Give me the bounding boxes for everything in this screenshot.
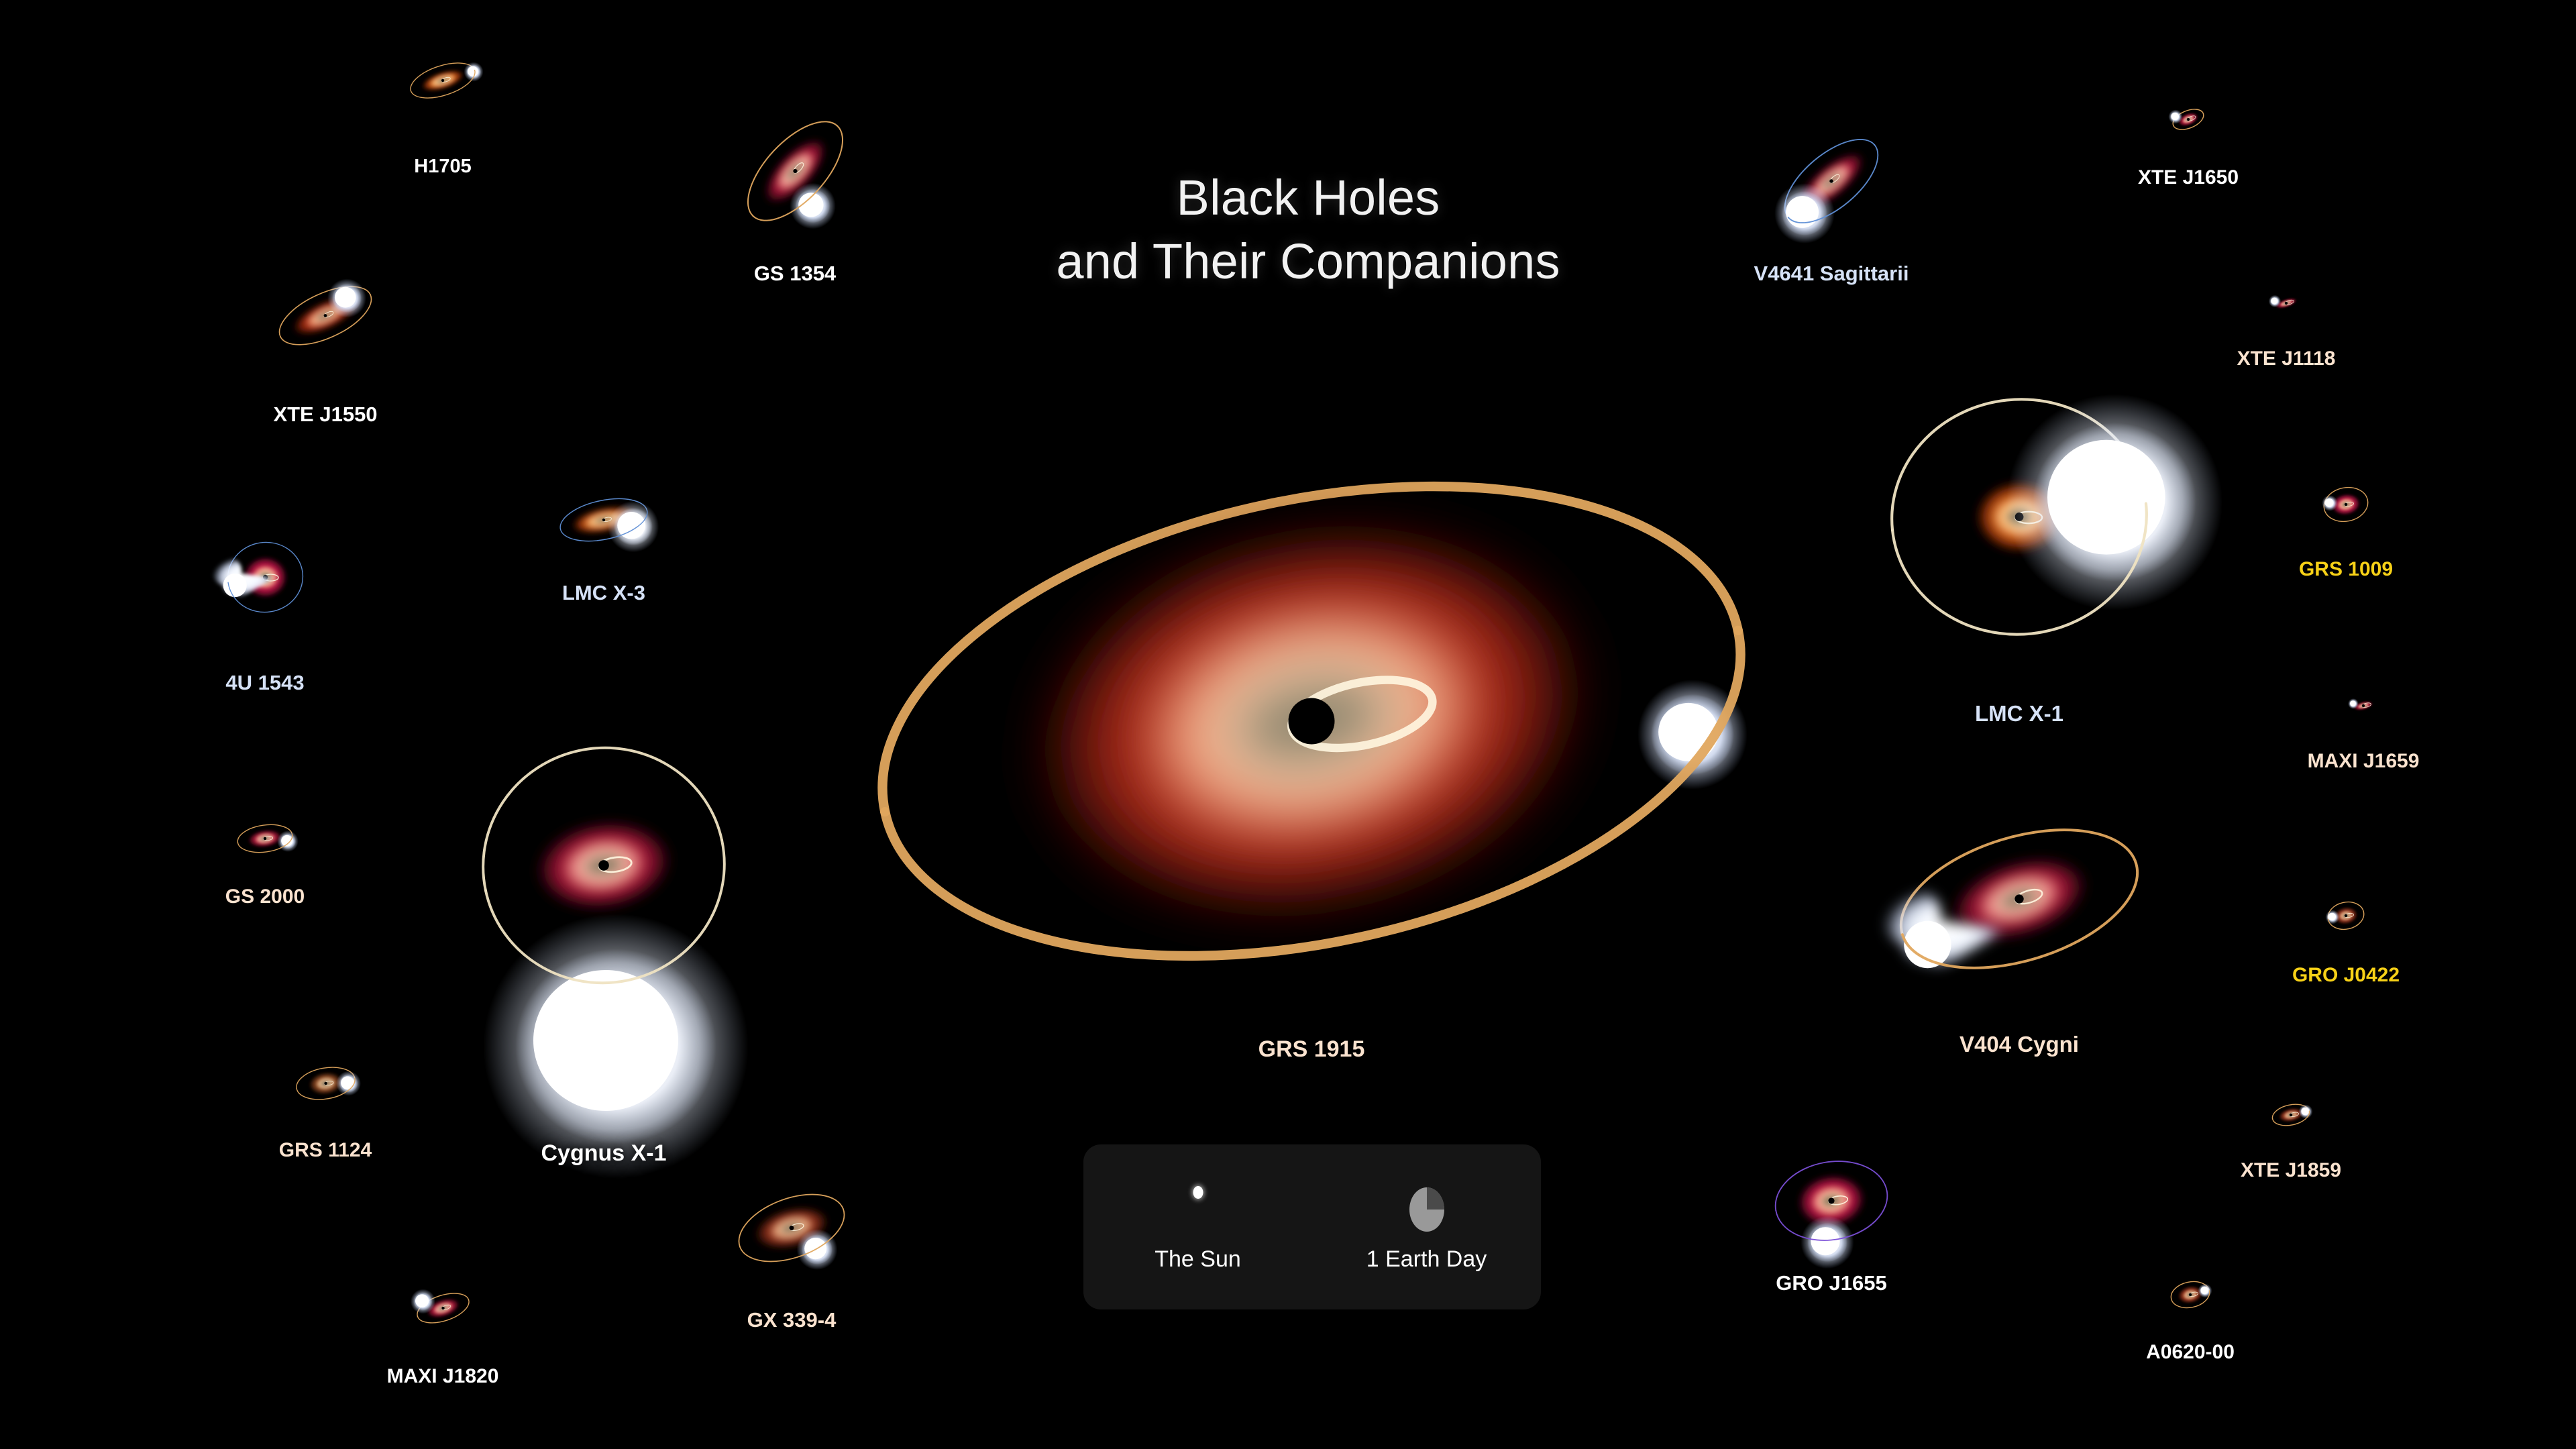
- black-hole-system-gs2000[interactable]: [235, 822, 295, 855]
- system-label-xtej1650: XTE J1650: [2138, 166, 2239, 189]
- legend-item-sun: The Sun: [1083, 1144, 1312, 1309]
- system-label-grs1915: GRS 1915: [1258, 1036, 1365, 1063]
- accretion-disk-icon: [1885, 805, 2153, 993]
- black-hole-system-xtej1650[interactable]: [2168, 108, 2208, 131]
- system-label-v4641sgr: V4641 Sagittarii: [1754, 262, 1909, 286]
- black-hole-system-v4641sgr[interactable]: [1771, 138, 1892, 225]
- legend-item-earth-day: 1 Earth Day: [1312, 1144, 1541, 1309]
- accretion-disk-icon: [235, 822, 295, 855]
- accretion-disk-icon: [1885, 425, 2153, 609]
- accretion-disk-icon: [733, 127, 857, 215]
- accretion-disk-icon: [2266, 293, 2306, 313]
- accretion-disk-icon: [220, 542, 311, 612]
- black-hole-system-v404cygni[interactable]: [1885, 805, 2153, 993]
- system-label-lmcx1: LMC X-1: [1975, 701, 2063, 727]
- sun-dot-icon: [1193, 1186, 1203, 1199]
- black-hole-system-maxij1659[interactable]: [2345, 696, 2382, 715]
- black-hole-system-cygnusx1[interactable]: [483, 711, 724, 1020]
- black-hole-system-lmcx1[interactable]: [1885, 425, 2153, 609]
- accretion-disk-icon: [272, 280, 379, 351]
- black-hole-system-4u1543[interactable]: [220, 542, 311, 612]
- system-label-gs1354: GS 1354: [754, 262, 836, 286]
- pie-clock-icon: [1407, 1186, 1446, 1236]
- system-label-v404cygni: V404 Cygni: [1960, 1032, 2079, 1057]
- black-hole-system-groj0422[interactable]: [2324, 903, 2367, 928]
- system-label-cygnusx1: Cygnus X-1: [541, 1140, 666, 1167]
- accretion-disk-icon: [2167, 1283, 2214, 1307]
- system-label-maxij1820: MAXI J1820: [387, 1365, 499, 1388]
- accretion-disk-icon: [411, 1292, 475, 1324]
- black-hole-system-xtej1859[interactable]: [2267, 1103, 2314, 1127]
- black-hole-system-xtej1118[interactable]: [2266, 293, 2306, 313]
- accretion-disk-icon: [2324, 903, 2367, 928]
- system-label-h1705: H1705: [414, 156, 471, 178]
- accretion-disk-icon: [483, 711, 724, 1020]
- diagram-canvas: Black Holes and Their Companions: [0, 0, 2576, 1449]
- accretion-disk-icon: [553, 489, 654, 551]
- black-hole-system-gx3394[interactable]: [735, 1189, 849, 1267]
- system-label-groj0422: GRO J0422: [2292, 964, 2400, 987]
- accretion-disk-icon: [2168, 108, 2208, 131]
- system-label-xtej1118: XTE J1118: [2237, 347, 2336, 370]
- black-hole-system-h1705[interactable]: [409, 63, 476, 98]
- black-hole-system-lmcx3[interactable]: [553, 489, 654, 551]
- system-label-a0620: A0620-00: [2146, 1341, 2235, 1364]
- accretion-disk-icon: [294, 1067, 358, 1100]
- black-hole-system-xtej1550[interactable]: [272, 280, 379, 351]
- black-hole-system-grs1915[interactable]: [889, 490, 1734, 953]
- accretion-disk-icon: [889, 490, 1734, 953]
- system-label-gs2000: GS 2000: [225, 885, 305, 908]
- system-label-grs1124: GRS 1124: [279, 1139, 372, 1162]
- page-title: Black Holes and Their Companions: [1033, 166, 1583, 293]
- system-label-4u1543: 4U 1543: [225, 671, 304, 695]
- black-hole-system-a0620[interactable]: [2167, 1283, 2214, 1307]
- accretion-disk-icon: [409, 63, 476, 98]
- black-hole-system-grs1124[interactable]: [294, 1067, 358, 1100]
- accretion-disk-icon: [1768, 1150, 1895, 1251]
- system-label-lmcx3: LMC X-3: [562, 581, 645, 605]
- black-hole-system-grs1009[interactable]: [2320, 489, 2372, 520]
- system-label-grs1009: GRS 1009: [2299, 558, 2393, 581]
- system-label-gx3394: GX 339-4: [747, 1308, 837, 1332]
- accretion-disk-icon: [2320, 489, 2372, 520]
- accretion-disk-icon: [1771, 138, 1892, 225]
- system-label-xtej1550: XTE J1550: [273, 402, 377, 427]
- black-hole-system-groj1655[interactable]: [1768, 1150, 1895, 1251]
- legend-caption-earth-day: 1 Earth Day: [1366, 1246, 1487, 1273]
- accretion-disk-icon: [735, 1189, 849, 1267]
- legend-panel: The Sun 1 Earth Day: [1083, 1144, 1541, 1309]
- legend-caption-sun: The Sun: [1155, 1246, 1241, 1273]
- black-hole-system-gs1354[interactable]: [733, 127, 857, 215]
- system-label-maxij1659: MAXI J1659: [2308, 750, 2420, 773]
- accretion-disk-icon: [2345, 696, 2382, 715]
- system-label-groj1655: GRO J1655: [1776, 1271, 1886, 1295]
- system-label-xtej1859: XTE J1859: [2241, 1159, 2341, 1182]
- black-hole-system-maxij1820[interactable]: [411, 1292, 475, 1324]
- accretion-disk-icon: [2267, 1103, 2314, 1127]
